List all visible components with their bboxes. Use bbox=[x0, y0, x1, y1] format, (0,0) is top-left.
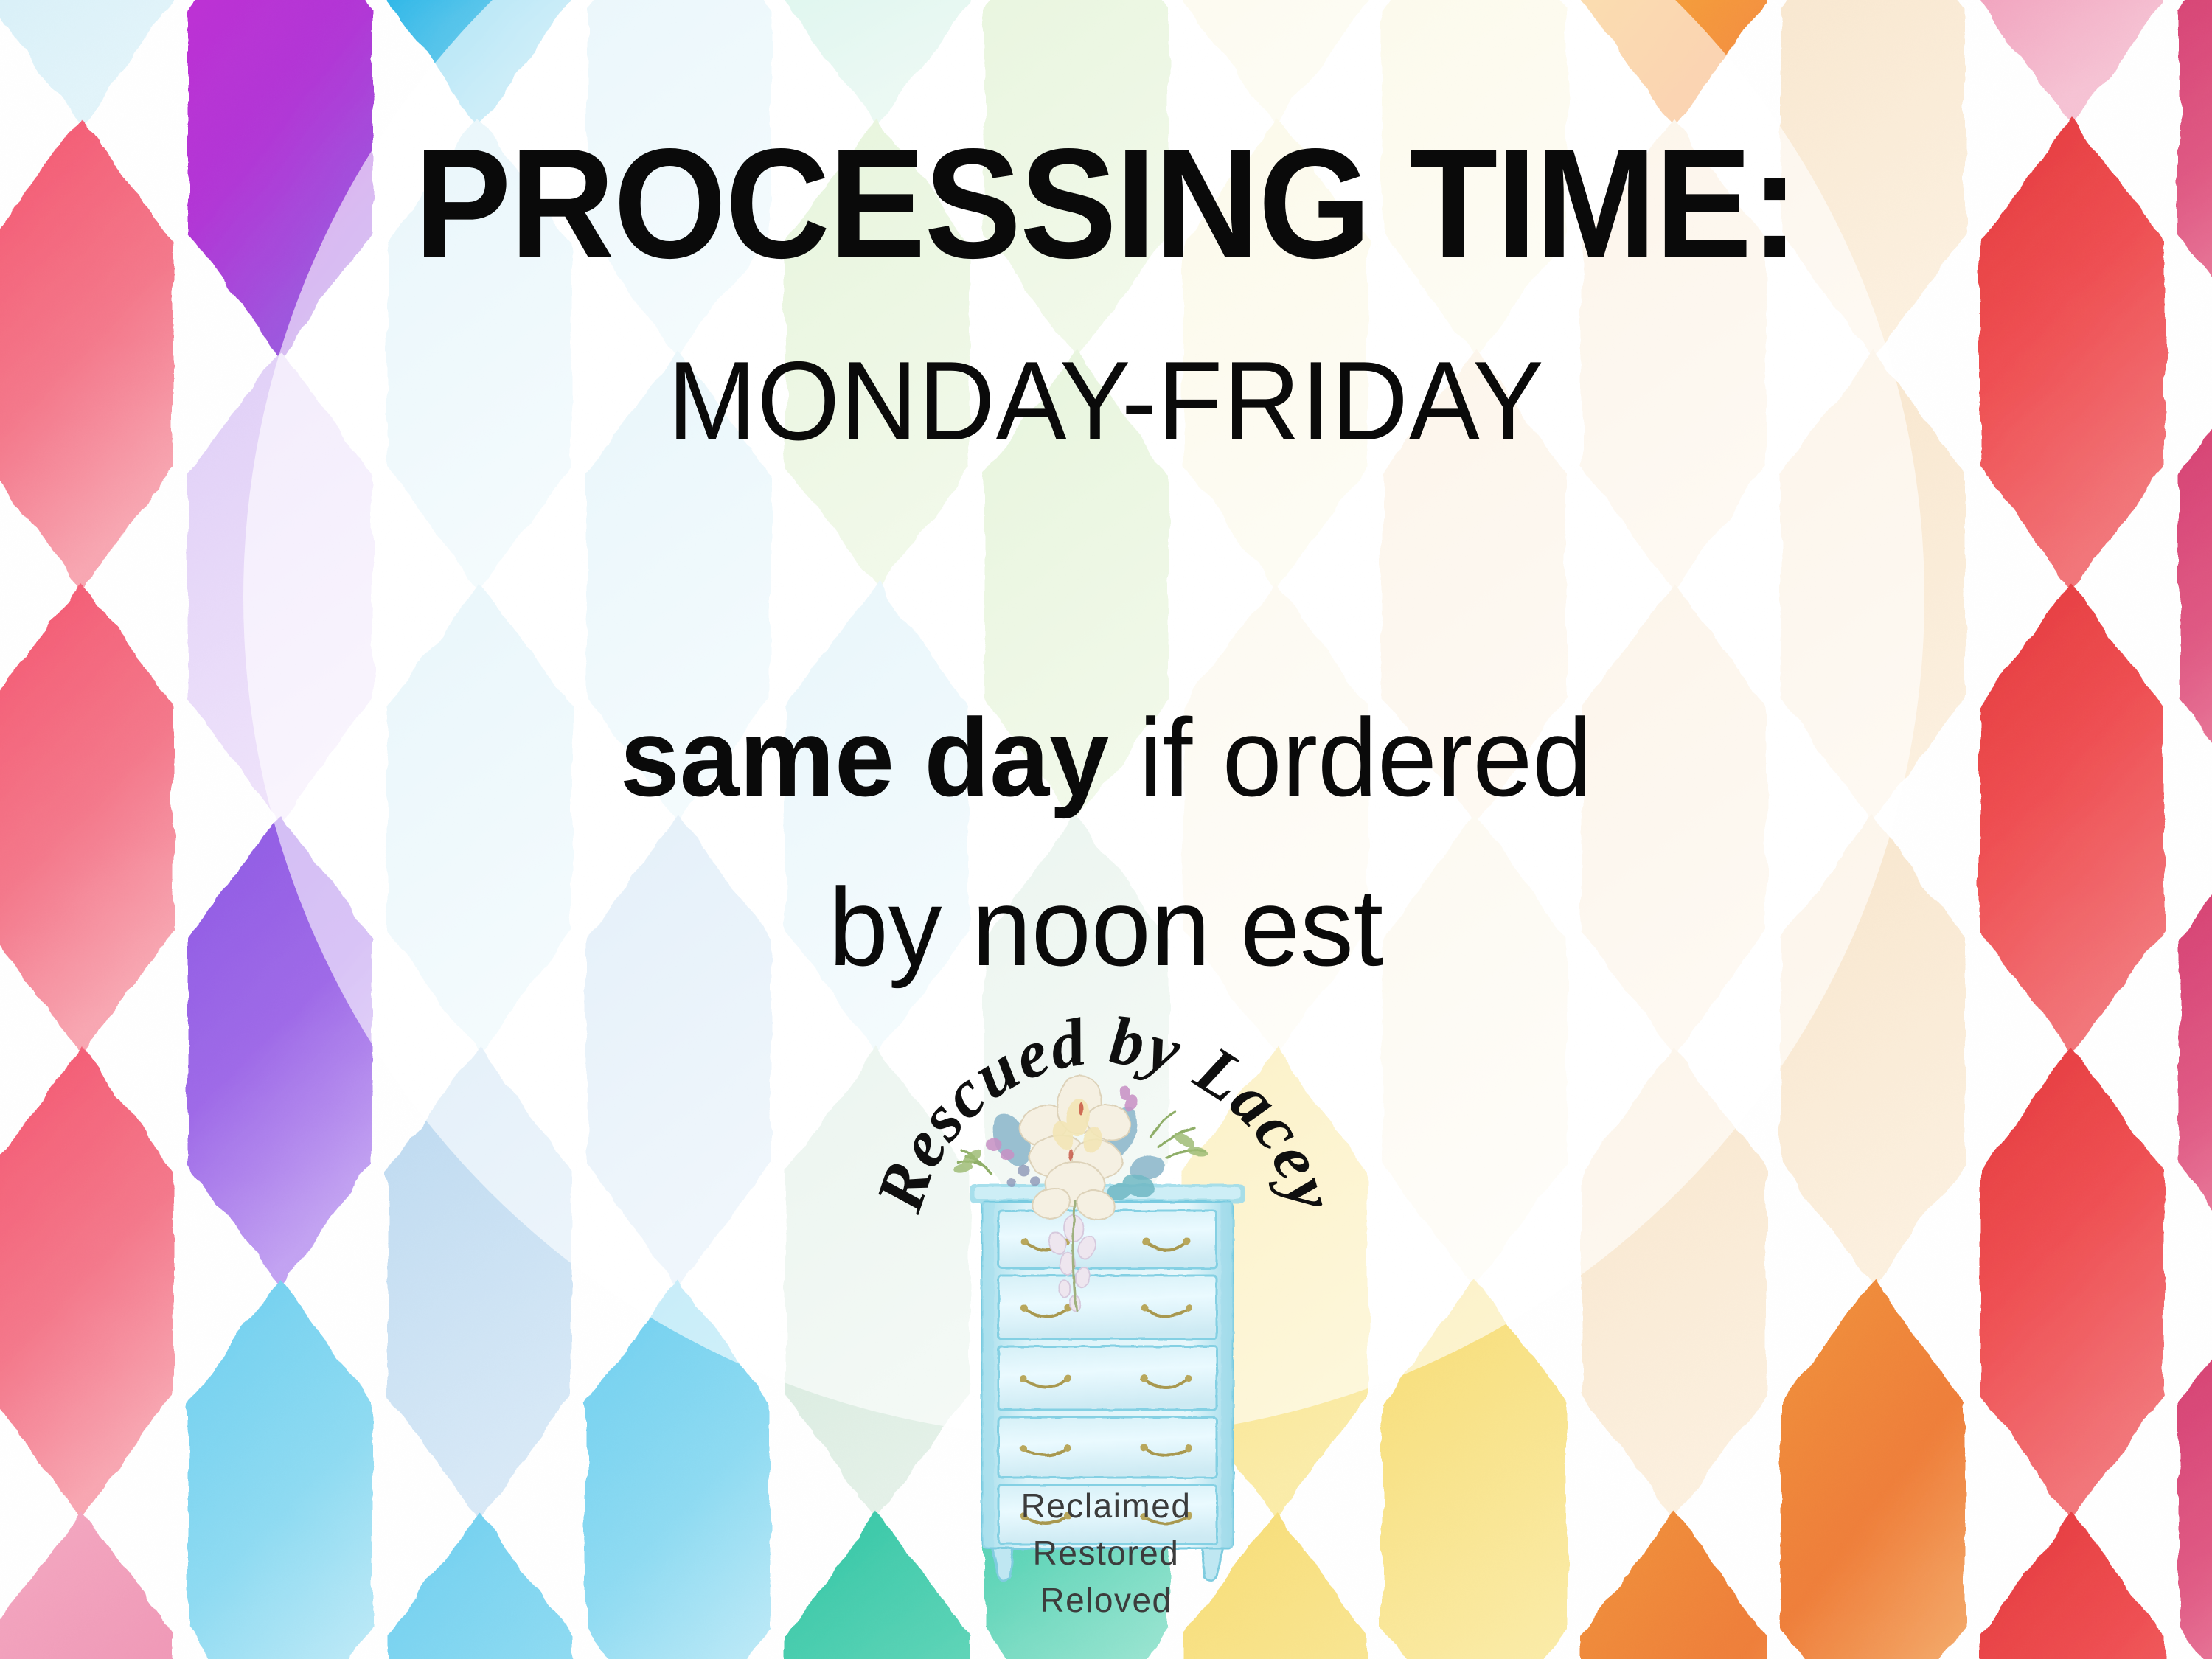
tagline-line-1: Reclaimed bbox=[900, 1482, 1312, 1529]
poster-canvas: PROCESSING TIME: MONDAY-FRIDAY same day … bbox=[0, 0, 2212, 1659]
tagline-line-2: Restored bbox=[900, 1529, 1312, 1576]
brand-tagline: Reclaimed Restored Reloved bbox=[900, 1482, 1312, 1624]
tagline-line-3: Reloved bbox=[900, 1576, 1312, 1624]
